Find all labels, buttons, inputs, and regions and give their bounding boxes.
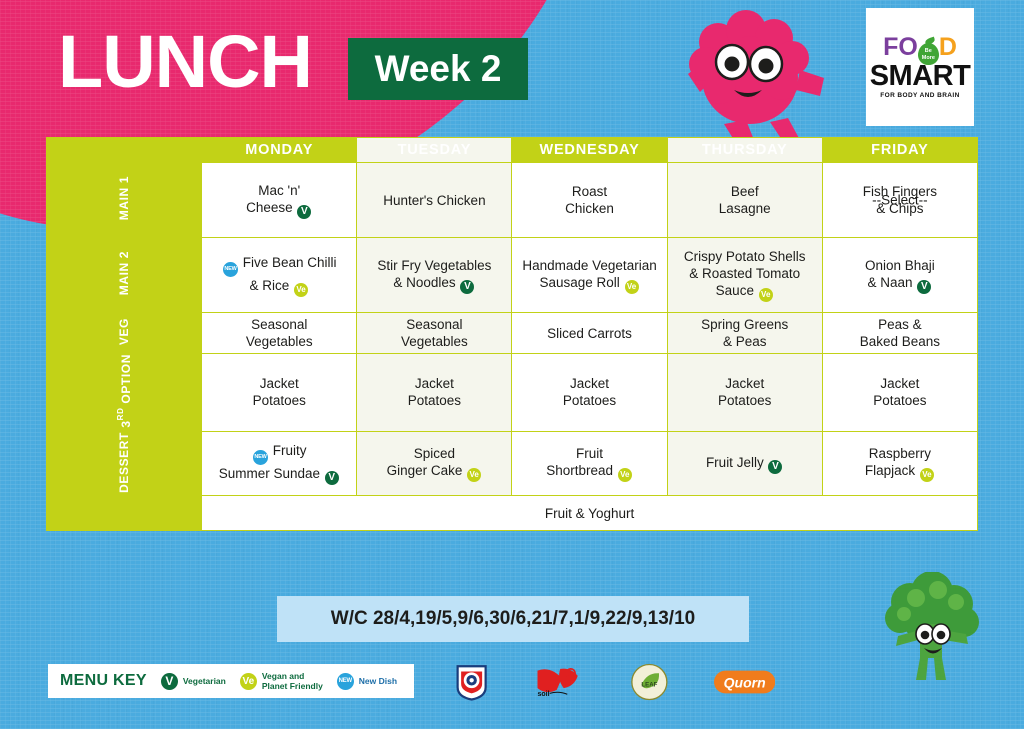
menu-cell: Handmade VegetarianSausage Roll Ve	[512, 238, 667, 313]
dish-text: SpicedGinger Cake Ve	[387, 446, 483, 478]
row-label-3rd-option: 3RD OPTION	[47, 354, 202, 432]
dish-text: JacketPotatoes	[563, 376, 616, 408]
page-title: LUNCH	[58, 22, 312, 102]
dish-text: JacketPotatoes	[718, 376, 771, 408]
menu-key-label-new-dish: New Dish	[359, 676, 397, 686]
dish-text: JacketPotatoes	[253, 376, 306, 408]
table-footer-row: Fruit & Yoghurt	[47, 496, 978, 531]
vegan-badge-icon: Ve	[759, 288, 773, 302]
menu-cell: Spring Greens& Peas	[667, 313, 822, 354]
menu-cell: Sliced Carrots	[512, 313, 667, 354]
logo-food-word: FOBeMoreD	[870, 35, 971, 61]
vegan-badge-icon: Ve	[625, 280, 639, 294]
dish-text: SeasonalVegetables	[401, 317, 468, 349]
menu-cell: Crispy Potato Shells& Roasted TomatoSauc…	[667, 238, 822, 313]
row-label-veg: VEG	[47, 313, 202, 354]
menu-cell: Fruit Jelly V	[667, 431, 822, 496]
menu-cell: Stir Fry Vegetables& Noodles V	[357, 238, 512, 313]
logo-fo: FO	[883, 35, 918, 60]
dish-text: Crispy Potato Shells& Roasted TomatoSauc…	[684, 249, 806, 298]
logo-leaf-icon	[924, 36, 935, 45]
dish-text: Fruit Jelly V	[706, 455, 784, 470]
vegan-badge-icon: Ve	[618, 468, 632, 482]
table-corner-cell	[47, 138, 202, 163]
menu-key-label-vegetarian: Vegetarian	[183, 676, 226, 686]
menu-cell: NEW Five Bean Chilli& Rice Ve	[202, 238, 357, 313]
menu-key-item-new-dish: NEW New Dish	[337, 673, 397, 690]
logo-tagline: FOR BODY AND BRAIN	[870, 93, 971, 100]
table-row: VEGSeasonalVegetablesSeasonalVegetablesS…	[47, 313, 978, 354]
menu-cell: SeasonalVegetables	[357, 313, 512, 354]
raspberry-mascot	[662, 0, 837, 140]
dish-text: Onion Bhaji& Naan V	[865, 258, 935, 290]
new-dish-badge-icon: NEW	[223, 262, 238, 277]
menu-key-item-vegan: Ve Vegan and Planet Friendly	[240, 671, 323, 691]
dish-text: Sliced Carrots	[547, 326, 632, 341]
menu-cell: RoastChicken	[512, 163, 667, 238]
svg-text:soil: soil	[538, 691, 550, 698]
row-label-blank	[47, 496, 202, 531]
table-row: MAIN 2NEW Five Bean Chilli& Rice VeStir …	[47, 238, 978, 313]
row-label-dessert: DESSERT	[47, 431, 202, 496]
table-body: MAIN 1Mac 'n'Cheese VHunter's ChickenRoa…	[47, 163, 978, 531]
day-header-tuesday: TUESDAY	[357, 138, 512, 163]
menu-cell: Hunter's Chicken	[357, 163, 512, 238]
logo-smart-word: SMART	[870, 62, 971, 91]
dish-text: JacketPotatoes	[873, 376, 926, 408]
red-tractor-logo	[455, 661, 488, 703]
food-smart-logo: FOBeMoreD SMART FOR BODY AND BRAIN	[866, 8, 974, 126]
soil-association-logo: soil	[534, 663, 585, 701]
vegan-badge-icon: Ve	[467, 468, 481, 482]
dish-text: Mac 'n'Cheese V	[246, 183, 312, 215]
menu-cell: NEW FruitySummer Sundae V	[202, 431, 357, 496]
logo-apple-icon: BeMore	[918, 43, 939, 65]
menu-cell: Fish Fingers& Chips--Select--	[822, 163, 977, 238]
menu-cell: SeasonalVegetables	[202, 313, 357, 354]
new-dish-badge-icon: NEW	[337, 673, 354, 690]
dish-text: FruitShortbread Ve	[546, 446, 633, 478]
menu-cell: SpicedGinger Cake Ve	[357, 431, 512, 496]
menu-cell: JacketPotatoes	[667, 354, 822, 432]
vegetarian-badge-icon: V	[161, 673, 178, 690]
menu-cell: BeefLasagne	[667, 163, 822, 238]
menu-cell: JacketPotatoes	[202, 354, 357, 432]
fruit-and-yoghurt-cell: Fruit & Yoghurt	[202, 496, 978, 531]
menu-table: MONDAY TUESDAY WEDNESDAY THURSDAY FRIDAY…	[46, 137, 978, 531]
day-header-friday: FRIDAY	[822, 138, 977, 163]
menu-key-bar: MENU KEY V Vegetarian Ve Vegan and Plane…	[48, 664, 414, 698]
menu-cell: RaspberryFlapjack Ve	[822, 431, 977, 496]
menu-cell: JacketPotatoes	[822, 354, 977, 432]
table-row: DESSERTNEW FruitySummer Sundae VSpicedGi…	[47, 431, 978, 496]
day-header-thursday: THURSDAY	[667, 138, 822, 163]
dish-text: NEW FruitySummer Sundae V	[219, 443, 340, 481]
table-row: MAIN 1Mac 'n'Cheese VHunter's ChickenRoa…	[47, 163, 978, 238]
dish-text: Hunter's Chicken	[383, 193, 485, 208]
menu-cell: JacketPotatoes	[512, 354, 667, 432]
row-label-main-1: MAIN 1	[47, 163, 202, 238]
leaf-logo: LEAF	[631, 661, 668, 703]
dish-text: Fish Fingers& Chips	[863, 184, 937, 216]
vegan-badge-icon: Ve	[240, 673, 257, 690]
svg-text:LEAF: LEAF	[641, 681, 657, 688]
dish-text: RoastChicken	[565, 184, 614, 216]
menu-key-item-vegetarian: V Vegetarian	[161, 673, 226, 690]
dish-text: Stir Fry Vegetables& Noodles V	[377, 258, 491, 290]
menu-cell: Onion Bhaji& Naan V	[822, 238, 977, 313]
day-header-monday: MONDAY	[202, 138, 357, 163]
logo-apple-line2: More	[918, 55, 939, 62]
menu-cell: Mac 'n'Cheese V	[202, 163, 357, 238]
row-label-main-2: MAIN 2	[47, 238, 202, 313]
menu-cell: FruitShortbread Ve	[512, 431, 667, 496]
dish-text: Spring Greens& Peas	[701, 317, 788, 349]
table-row: 3RD OPTIONJacketPotatoesJacketPotatoesJa…	[47, 354, 978, 432]
dish-text: Peas &Baked Beans	[860, 317, 940, 349]
new-dish-badge-icon: NEW	[253, 450, 268, 465]
accreditation-logos: soil LEAF Quorn	[455, 660, 775, 704]
svg-text:Quorn: Quorn	[723, 674, 765, 690]
vegetarian-badge-icon: V	[768, 460, 782, 474]
dish-text: BeefLasagne	[719, 184, 771, 216]
week-badge: Week 2	[348, 38, 528, 100]
dish-text: Handmade VegetarianSausage Roll Ve	[522, 258, 656, 290]
day-header-wednesday: WEDNESDAY	[512, 138, 667, 163]
vegetarian-badge-icon: V	[917, 280, 931, 294]
vegetarian-badge-icon: V	[460, 280, 474, 294]
dish-text: JacketPotatoes	[408, 376, 461, 408]
quorn-logo: Quorn	[714, 666, 775, 698]
menu-key-title: MENU KEY	[60, 672, 147, 690]
table-header-row: MONDAY TUESDAY WEDNESDAY THURSDAY FRIDAY	[47, 138, 978, 163]
vegetarian-badge-icon: V	[325, 471, 339, 485]
logo-d: D	[939, 35, 957, 60]
dish-text: RaspberryFlapjack Ve	[865, 446, 935, 478]
dish-text: NEW Five Bean Chilli& Rice Ve	[222, 255, 337, 293]
menu-cell: Peas &Baked Beans	[822, 313, 977, 354]
dish-text: SeasonalVegetables	[246, 317, 313, 349]
menu-key-label-vegan: Vegan and Planet Friendly	[262, 671, 323, 691]
menu-cell: JacketPotatoes	[357, 354, 512, 432]
vegetarian-badge-icon: V	[297, 205, 311, 219]
week-commencing-banner: W/C 28/4,19/5,9/6,30/6,21/7,1/9,22/9,13/…	[277, 596, 749, 642]
broccoli-mascot	[880, 572, 984, 684]
logo-apple-line1: Be	[918, 48, 939, 55]
vegan-badge-icon: Ve	[920, 468, 934, 482]
vegan-badge-icon: Ve	[294, 283, 308, 297]
